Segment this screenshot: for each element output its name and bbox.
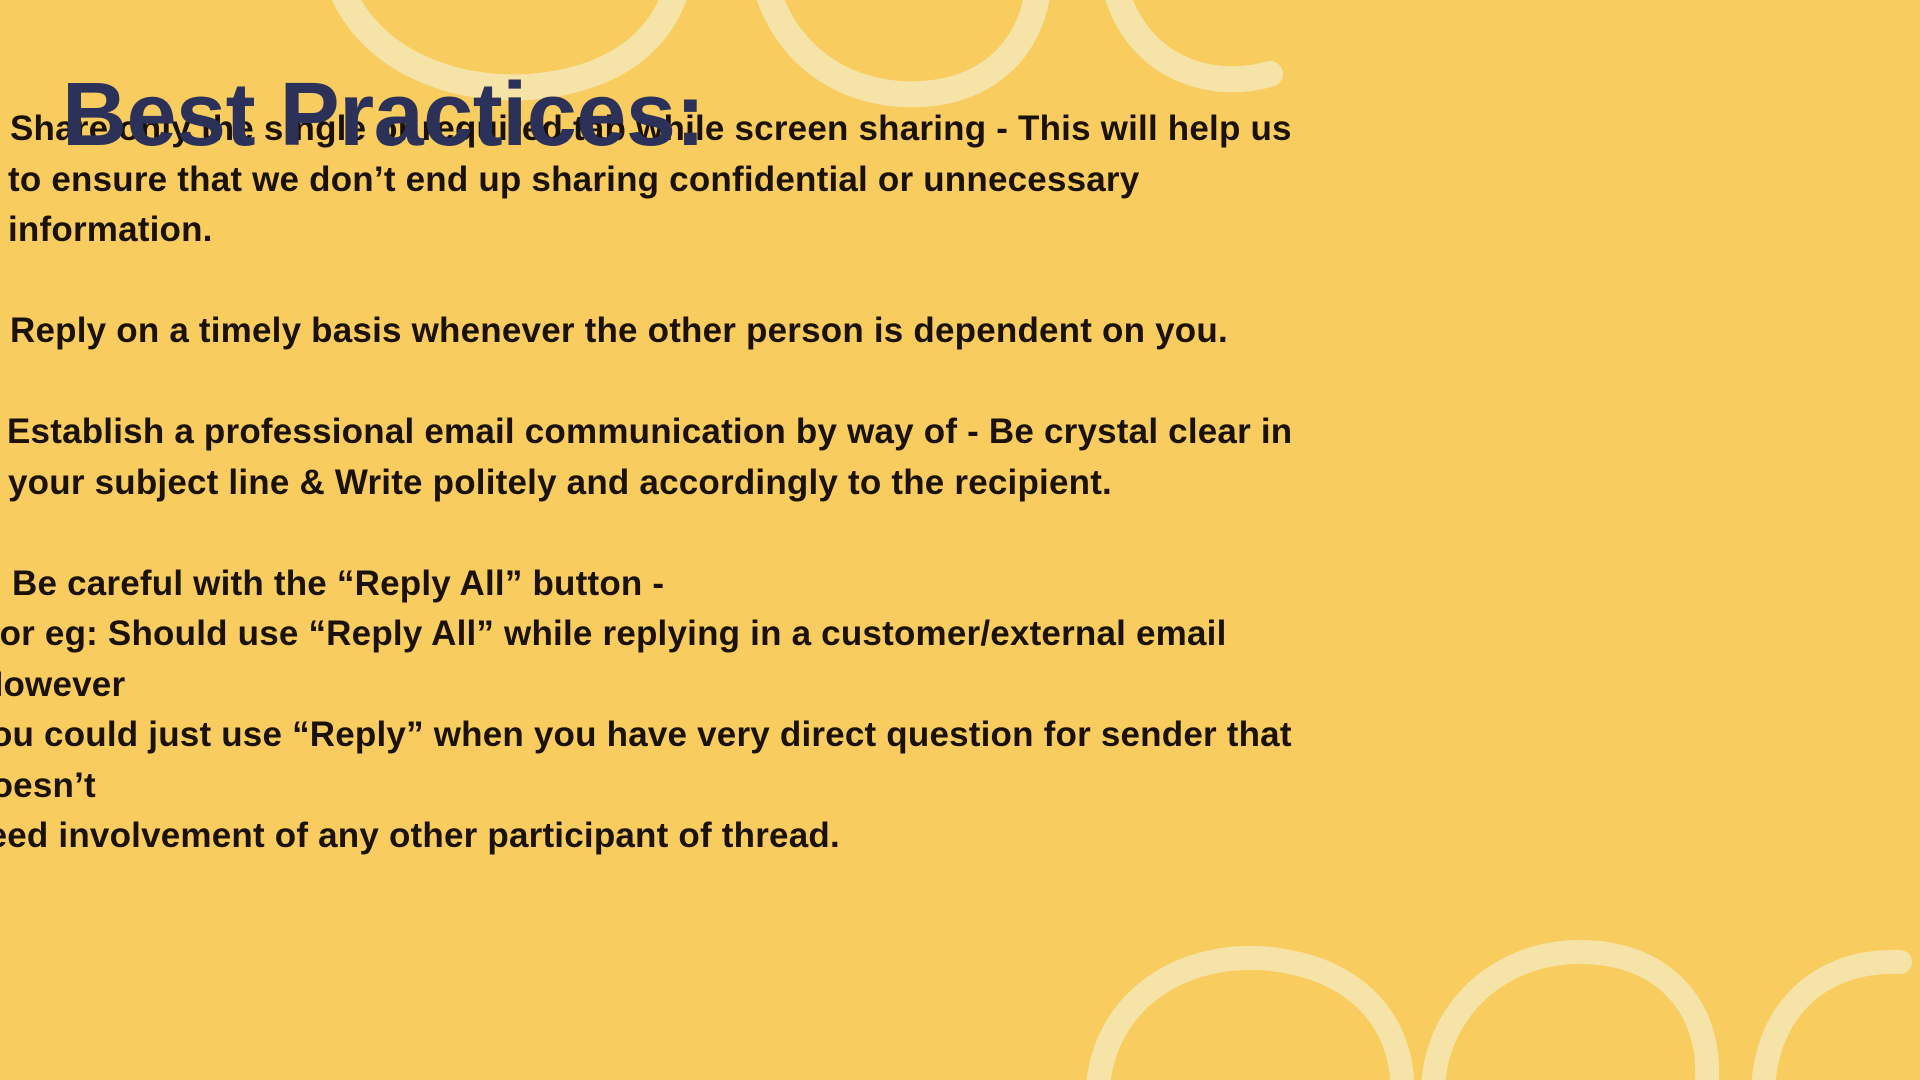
practice-item-timely-reply: Reply on a timely basis whenever the oth… (0, 306, 1920, 357)
decor-loop-top-mid (759, 0, 1039, 94)
practice-item-professional-email: Establish a professional email communica… (0, 407, 1920, 508)
paragraph-spacer (0, 256, 1920, 307)
practice-line: Reply on a timely basis whenever the oth… (10, 306, 1920, 357)
practice-line: However (0, 660, 1920, 711)
practice-line: your subject line & Write politely and a… (8, 458, 1920, 509)
practice-line: information. (8, 205, 1920, 256)
paragraph-spacer (0, 357, 1920, 408)
practice-line: need involvement of any other participan… (0, 811, 1920, 862)
page-title: Best Practices: (62, 70, 705, 160)
decor-loop-bottom-mid (1433, 952, 1707, 1080)
practice-line: Establish a professional email communica… (7, 407, 1920, 458)
practice-line: You could just use “Reply” when you have… (0, 710, 1920, 761)
decor-loop-top-right (1110, 0, 1270, 79)
practice-item-reply-all: Be careful with the “Reply All” button -… (0, 559, 1920, 862)
best-practices-body: Share only the single or required tab wh… (0, 104, 1920, 862)
decor-loop-bottom-right (1763, 962, 1900, 1080)
practice-line: For eg: Should use “Reply All” while rep… (0, 609, 1920, 660)
practice-line: doesn’t (0, 761, 1920, 812)
paragraph-spacer (0, 508, 1920, 559)
slide-canvas: Best Practices: Share only the single or… (0, 0, 1920, 1080)
decor-loop-bottom-left (1097, 958, 1402, 1080)
practice-line: Be careful with the “Reply All” button - (12, 559, 1920, 610)
